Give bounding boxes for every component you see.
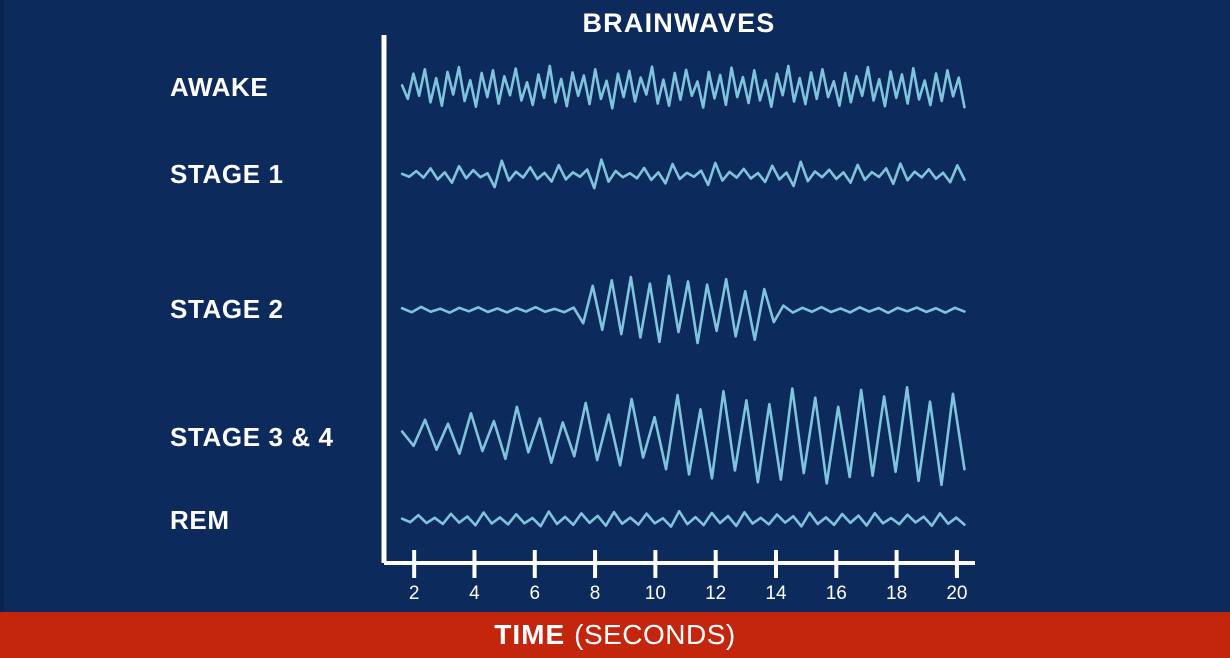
waveform-trace-stage-2 xyxy=(402,276,964,343)
x-axis-tick-label: 2 xyxy=(394,583,434,605)
brainwaves-chart: BRAINWAVES AWAKE STAGE 1 STAGE 2 STAGE 3… xyxy=(0,0,1230,658)
x-axis-tick-label: 8 xyxy=(575,583,615,605)
waveform-trace-stage-1 xyxy=(402,160,964,189)
x-axis-tick-label: 12 xyxy=(696,583,736,605)
x-axis-tick-label: 4 xyxy=(454,583,494,605)
x-axis-tick-label: 14 xyxy=(756,583,796,605)
footer-title-strong: TIME xyxy=(494,619,565,651)
waveform-trace-stage-3-4 xyxy=(402,387,964,485)
x-axis-tick-label: 16 xyxy=(816,583,856,605)
x-axis-tick-label: 20 xyxy=(937,583,977,605)
x-axis-tick-label: 10 xyxy=(635,583,675,605)
footer-title-unit: (SECONDS) xyxy=(574,619,736,651)
plot-area xyxy=(0,0,1230,612)
x-axis-tick-label: 18 xyxy=(877,583,917,605)
waveform-trace-rem xyxy=(402,511,964,526)
axes xyxy=(384,35,975,563)
x-axis-tick-label: 6 xyxy=(515,583,555,605)
footer-banner: TIME (SECONDS) xyxy=(0,612,1230,658)
waveform-trace-awake xyxy=(402,66,964,108)
waveform-traces xyxy=(402,66,964,527)
